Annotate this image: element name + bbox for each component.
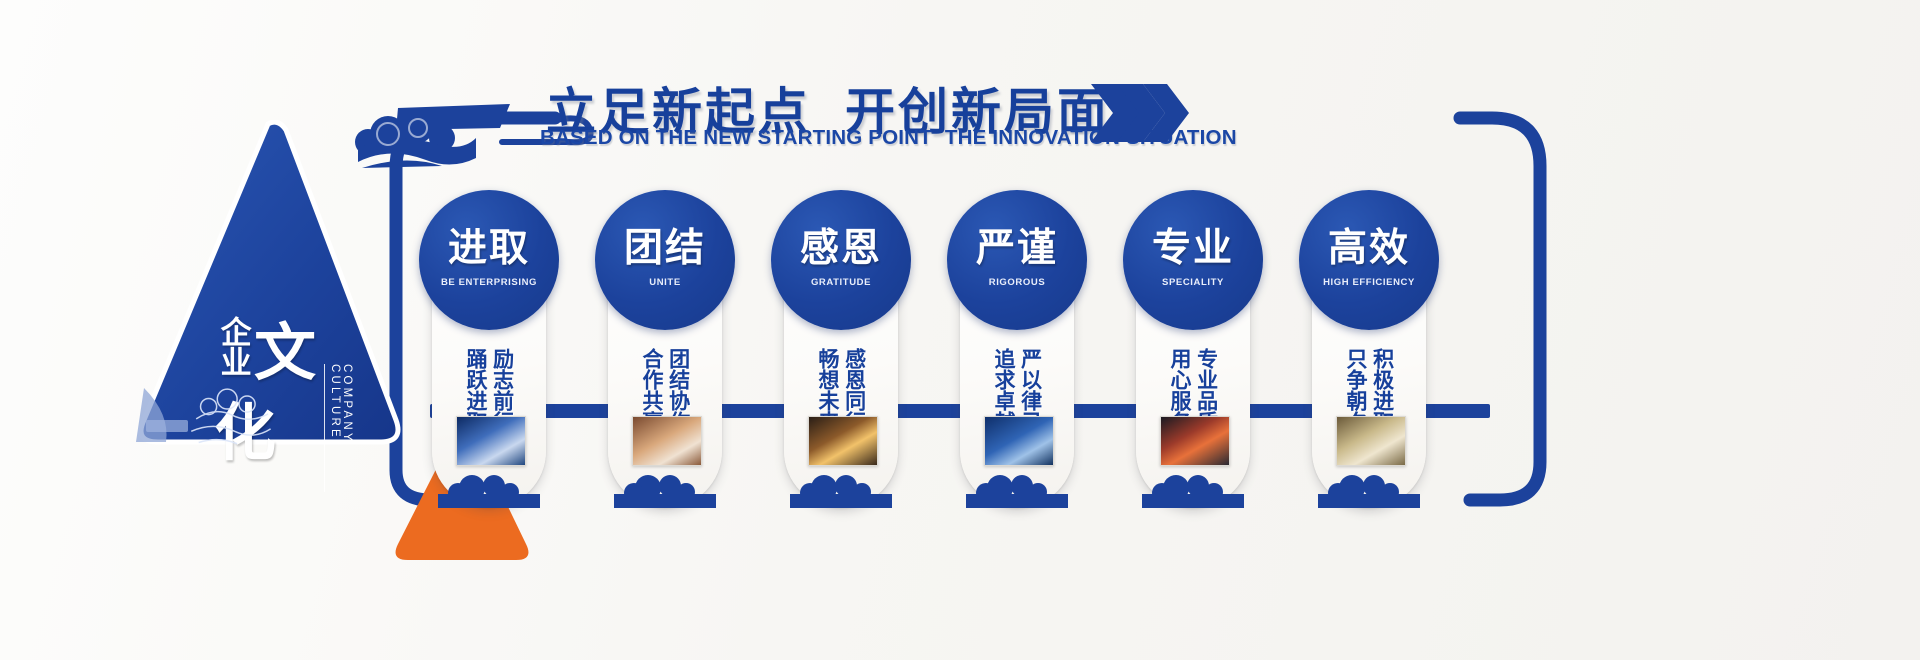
value-title-0: 进取 — [448, 229, 530, 268]
value-subtitle-4: SPECIALITY — [1162, 277, 1224, 288]
value-badge-4: 专业 SPECIALITY — [1123, 190, 1263, 330]
page-subtitle-part1: BASED ON THE NEW STARTING POINT — [540, 126, 932, 149]
value-photo-4 — [1160, 416, 1230, 466]
value-pill-1[interactable]: 团结 UNITE 团结协作 合作共赢 — [608, 196, 722, 508]
value-badge-0: 进取 BE ENTERPRISING — [419, 190, 559, 330]
value-subtitle-2: GRATITUDE — [811, 277, 871, 288]
value-badge-3: 严谨 RIGOROUS — [947, 190, 1087, 330]
value-photo-2 — [808, 416, 878, 466]
value-title-2: 感恩 — [800, 229, 882, 268]
culture-wall-board: 企业 文 化 COMPANY CULTURE 立足新起点开创新局面 BASED … — [0, 0, 1920, 660]
pill-cloud-foot-3 — [966, 472, 1068, 508]
value-title-5: 高效 — [1328, 229, 1410, 268]
value-subtitle-0: BE ENTERPRISING — [441, 277, 537, 288]
pill-cloud-foot-5 — [1318, 472, 1420, 508]
pill-cloud-foot-4 — [1142, 472, 1244, 508]
value-pill-3[interactable]: 严谨 RIGOROUS 严以律己 追求卓越 — [960, 196, 1074, 508]
pill-cloud-foot-2 — [790, 472, 892, 508]
value-subtitle-1: UNITE — [649, 277, 681, 288]
chevron-right-icon-group — [1089, 82, 1189, 144]
value-title-3: 严谨 — [976, 229, 1058, 268]
value-photo-3 — [984, 416, 1054, 466]
value-pill-0[interactable]: 进取 BE ENTERPRISING 励志前行 踊跃进取 — [432, 196, 546, 508]
value-photo-0 — [456, 416, 526, 466]
value-pill-5[interactable]: 高效 HIGH EFFICIENCY 积极进取 只争朝夕 — [1312, 196, 1426, 508]
value-pill-2[interactable]: 感恩 GRATITUDE 感恩同行 畅想未来 — [784, 196, 898, 508]
pill-cloud-foot-0 — [438, 472, 540, 508]
value-photo-5 — [1336, 416, 1406, 466]
value-photo-1 — [632, 416, 702, 466]
value-subtitle-3: RIGOROUS — [989, 277, 1046, 288]
value-badge-5: 高效 HIGH EFFICIENCY — [1299, 190, 1439, 330]
value-badge-1: 团结 UNITE — [595, 190, 735, 330]
value-title-4: 专业 — [1152, 229, 1234, 268]
value-subtitle-5: HIGH EFFICIENCY — [1323, 277, 1415, 288]
value-title-1: 团结 — [624, 229, 706, 268]
value-pill-4[interactable]: 专业 SPECIALITY 专业品质 用心服务 — [1136, 196, 1250, 508]
value-badge-2: 感恩 GRATITUDE — [771, 190, 911, 330]
cloud-ornament-icon — [352, 110, 480, 176]
pill-cloud-foot-1 — [614, 472, 716, 508]
